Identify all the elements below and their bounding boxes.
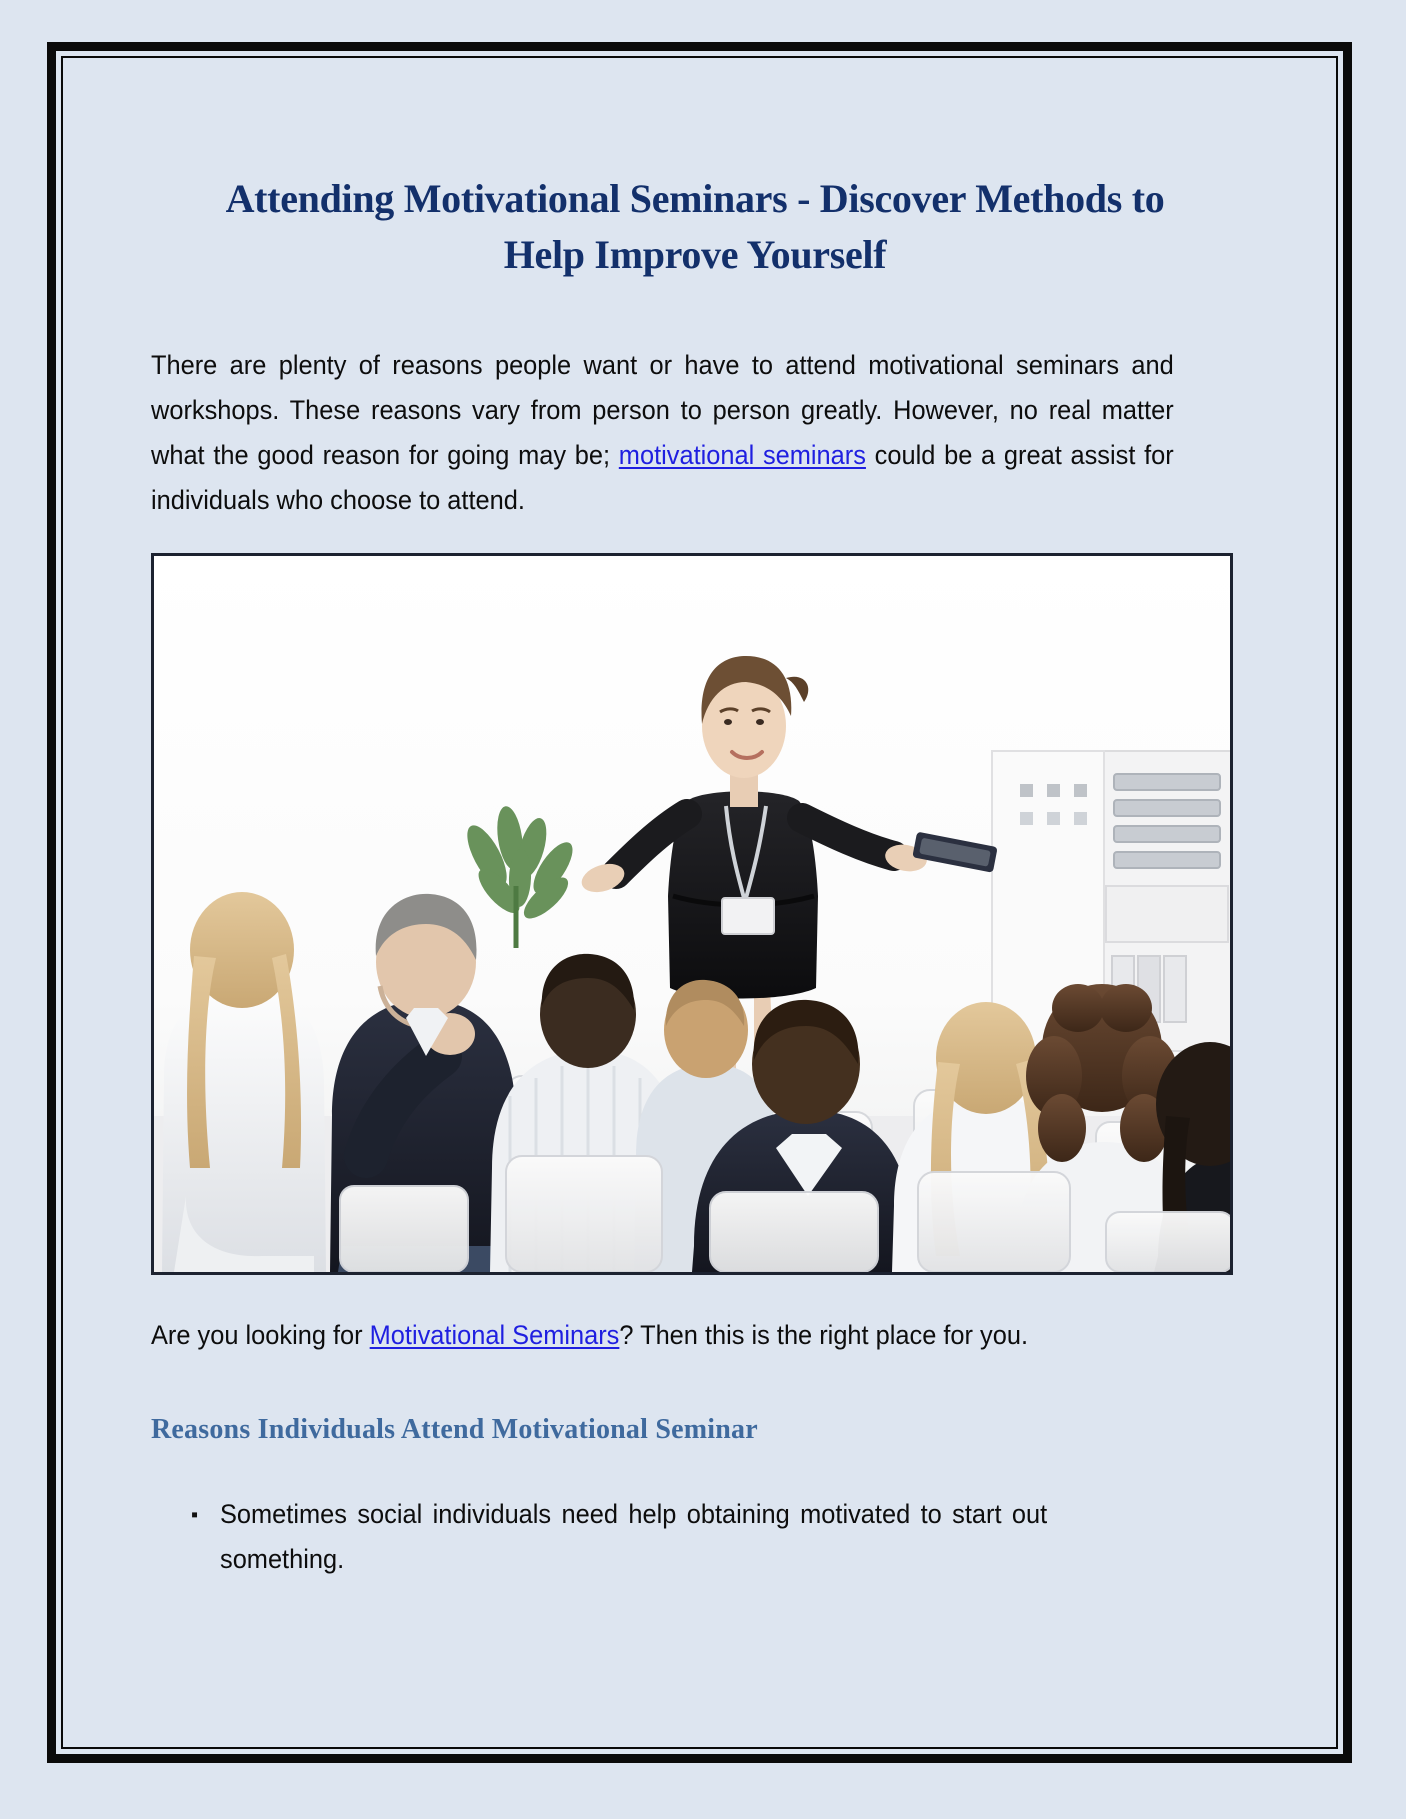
list-item-text: Sometimes social individuals need help o… — [220, 1492, 1047, 1582]
caption-paragraph: Are you looking for Motivational Seminar… — [151, 1313, 1174, 1358]
photo-canvas — [154, 556, 1230, 1272]
square-bullet-icon: ▪ — [191, 1493, 198, 1538]
caption-text-after-link: ? Then this is the right place for you. — [619, 1320, 1028, 1350]
section-heading: Reasons Individuals Attend Motivational … — [151, 1414, 1239, 1446]
motivational-seminars-link-2[interactable]: Motivational Seminars — [370, 1320, 620, 1350]
list-item: ▪ Sometimes social individuals need help… — [191, 1492, 1239, 1582]
intro-paragraph: There are plenty of reasons people want … — [151, 343, 1174, 523]
photo-illustration — [154, 556, 1230, 1272]
page-outer-border: Attending Motivational Seminars - Discov… — [47, 42, 1352, 1763]
reasons-bullet-list: ▪ Sometimes social individuals need help… — [151, 1492, 1239, 1582]
seminar-presentation-photo — [151, 553, 1233, 1275]
caption-text-before-link: Are you looking for — [151, 1320, 370, 1350]
document-page: Attending Motivational Seminars - Discov… — [0, 0, 1406, 1819]
motivational-seminars-link[interactable]: motivational seminars — [619, 440, 866, 470]
page-title: Attending Motivational Seminars - Discov… — [151, 171, 1239, 283]
document-content: Attending Motivational Seminars - Discov… — [151, 171, 1239, 1598]
